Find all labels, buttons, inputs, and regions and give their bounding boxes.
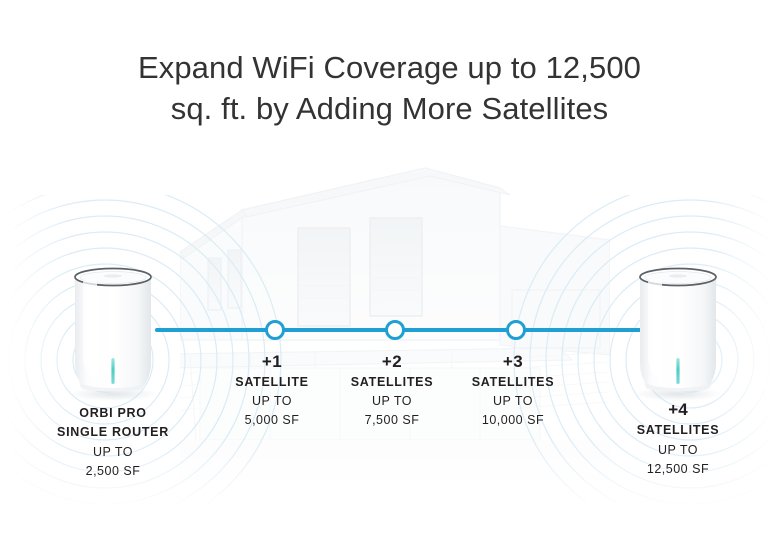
infographic-canvas: Expand WiFi Coverage up to 12,500 sq. ft… <box>0 0 779 536</box>
right-device-unit: SATELLITES <box>578 421 778 440</box>
timeline-node-1[interactable] <box>265 320 285 340</box>
milestone-3-label: +3 SATELLITES UP TO 10,000 SF <box>438 352 588 430</box>
left-device-upto: UP TO <box>13 443 213 462</box>
milestone-3-count: +3 <box>438 352 588 372</box>
left-device-coverage: 2,500 SF <box>13 462 213 481</box>
right-device-coverage: 12,500 SF <box>578 460 778 479</box>
right-device-upto: UP TO <box>578 441 778 460</box>
left-device-label: ORBI PRO SINGLE ROUTER UP TO 2,500 SF <box>13 404 213 482</box>
orbi-pro-router-image <box>57 262 169 402</box>
milestone-3-coverage: 10,000 SF <box>438 411 588 430</box>
left-device-title-2: SINGLE ROUTER <box>13 423 213 442</box>
right-device-count: +4 <box>578 400 778 420</box>
orbi-satellite-image <box>622 262 734 402</box>
timeline-node-3[interactable] <box>506 320 526 340</box>
milestone-3-upto: UP TO <box>438 392 588 411</box>
right-device-label: +4 SATELLITES UP TO 12,500 SF <box>578 400 778 480</box>
timeline-node-2[interactable] <box>385 320 405 340</box>
left-device-title-1: ORBI PRO <box>13 404 213 423</box>
milestone-3-unit: SATELLITES <box>438 373 588 392</box>
headline-line-1: Expand WiFi Coverage up to 12,500 <box>0 48 779 89</box>
headline-line-2: sq. ft. by Adding More Satellites <box>0 89 779 130</box>
page-title: Expand WiFi Coverage up to 12,500 sq. ft… <box>0 48 779 130</box>
